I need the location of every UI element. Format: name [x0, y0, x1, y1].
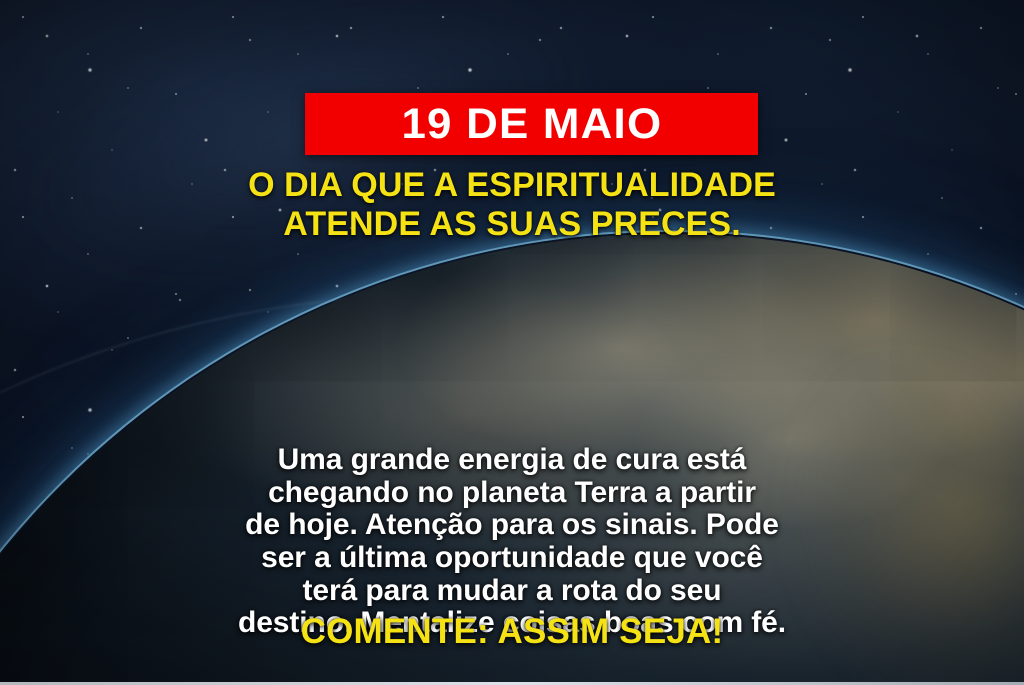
- body-line: chegando no planeta Terra a partir: [26, 477, 998, 510]
- body-line: Uma grande energia de cura está: [26, 444, 998, 477]
- date-banner: 19 DE MAIO: [305, 93, 758, 155]
- body-paragraph: Uma grande energia de cura está chegando…: [0, 444, 1024, 640]
- date-banner-label: 19 DE MAIO: [401, 103, 662, 146]
- page-title: O DIA QUE A ESPIRITUALIDADE ATENDE AS SU…: [0, 166, 1024, 245]
- poster-content: 19 DE MAIO O DIA QUE A ESPIRITUALIDADE A…: [0, 0, 1024, 685]
- body-line: terá para mudar a rota do seu: [26, 575, 998, 608]
- body-line: de hoje. Atenção para os sinais. Pode: [26, 509, 998, 542]
- body-line: ser a última oportunidade que você: [26, 542, 998, 575]
- headline-line-2: ATENDE AS SUAS PRECES.: [24, 205, 1000, 244]
- poster-canvas: 19 DE MAIO O DIA QUE A ESPIRITUALIDADE A…: [0, 0, 1024, 685]
- call-to-action-label: COMENTE: ASSIM SEJA!: [0, 612, 1024, 652]
- headline-line-1: O DIA QUE A ESPIRITUALIDADE: [248, 166, 776, 204]
